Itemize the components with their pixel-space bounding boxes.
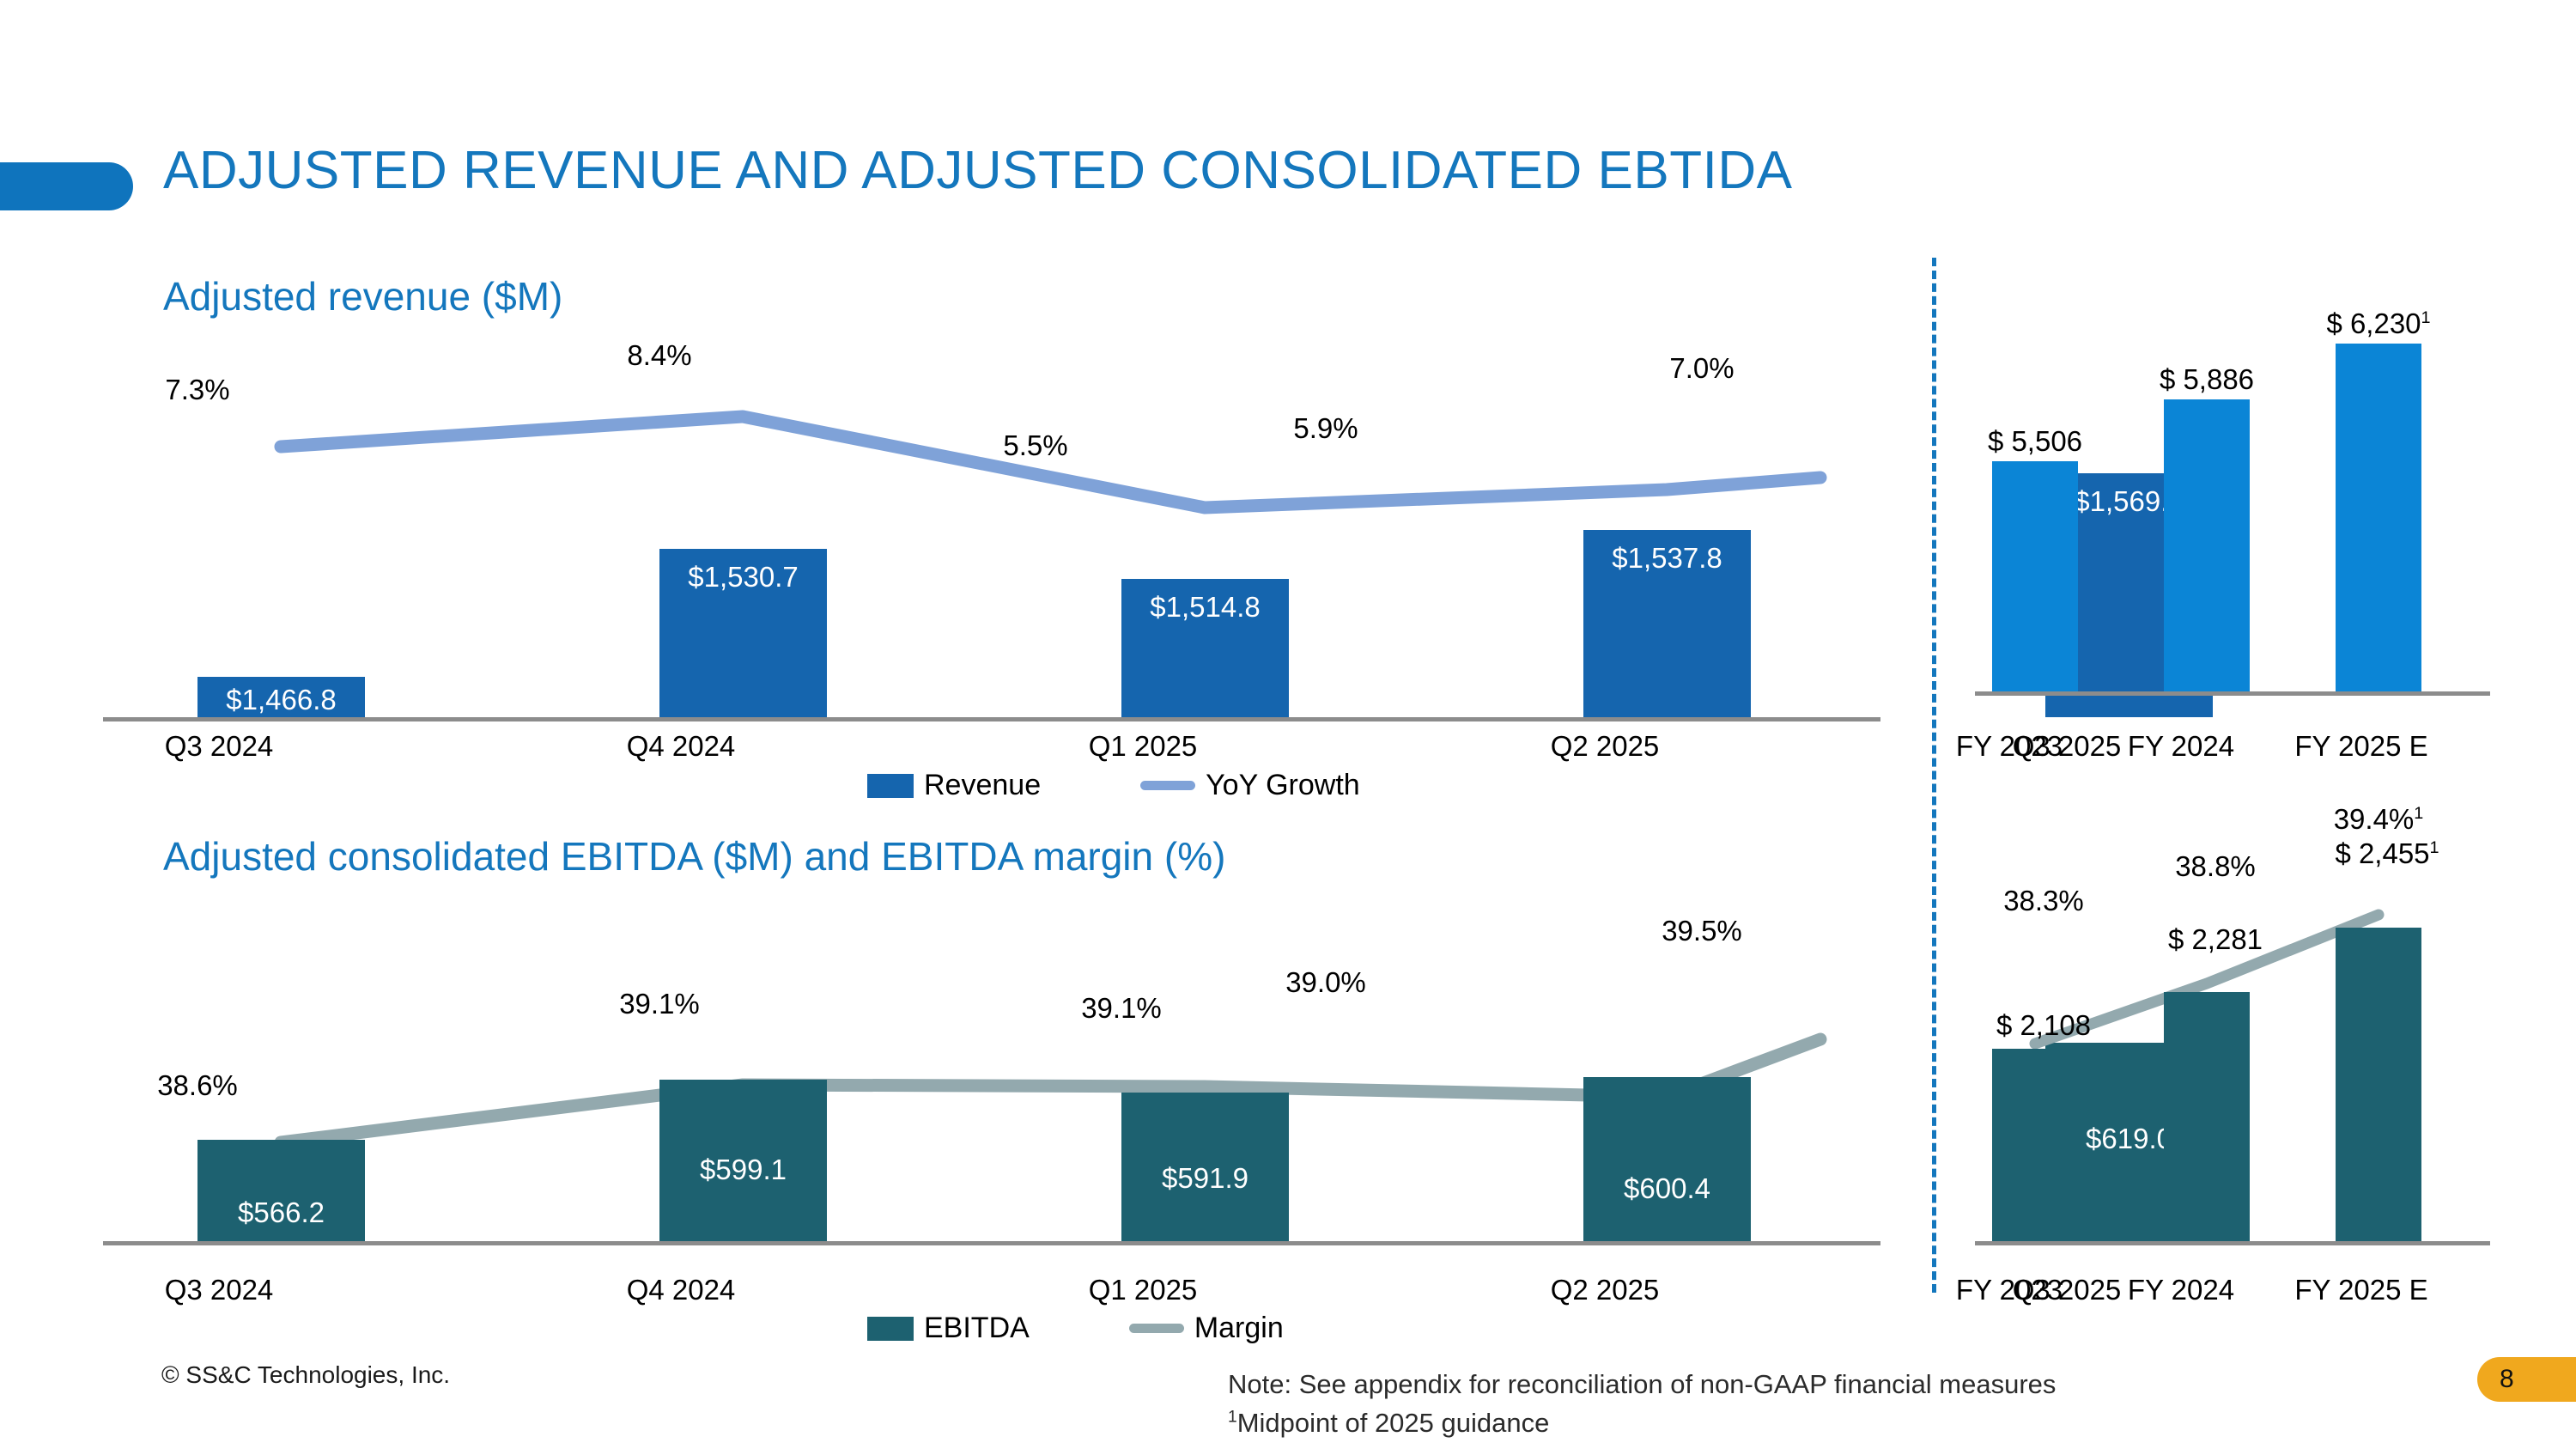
bar-annual-ebitda-fy2025e (2336, 928, 2421, 1241)
bar-ebitda-q4-2024: $599.1 (659, 1080, 827, 1241)
page-number-badge: 8 (2477, 1357, 2576, 1402)
x-axis-line (1975, 691, 2490, 696)
footnotes-block: Note: See appendix for reconciliation of… (1228, 1366, 2056, 1443)
margin-label-q2-2025: 39.0% (1240, 966, 1412, 999)
title-accent-bar (0, 162, 133, 210)
annual-revenue-value-text: $ 6,230 (2326, 307, 2421, 339)
x-label-q2-2025-ebitda: Q2 2025 (1498, 1274, 1712, 1306)
legend-label-ebitda: EBITDA (924, 1312, 1030, 1345)
revenue-legend: Revenue YoY Growth (867, 769, 1360, 802)
annual-margin-fy2025e: 39.4%1 (2293, 803, 2464, 836)
revenue-swatch-icon (867, 774, 914, 798)
margin-label-q3-2025: 39.5% (1616, 915, 1788, 947)
x-label-fy2024-revenue: FY 2024 (2095, 730, 2267, 763)
bar-annual-revenue-fy2025e (2336, 344, 2421, 691)
legend-item-revenue: Revenue (867, 769, 1041, 802)
legend-item-yoy-growth: YoY Growth (1140, 769, 1360, 802)
bar-value-label: $1,530.7 (659, 561, 827, 594)
bar-revenue-q4-2024: $1,530.7 (659, 549, 827, 717)
x-label-fy2023-revenue: FY 2023 (1923, 730, 2095, 763)
margin-label-q1-2025: 39.1% (1036, 992, 1207, 1025)
copyright-text: © SS&C Technologies, Inc. (161, 1361, 450, 1389)
bar-value-label: $599.1 (659, 1154, 827, 1186)
bar-revenue-q1-2025: $1,514.8 (1121, 579, 1289, 717)
yoy-label-q2-2025: 5.9% (1240, 412, 1412, 445)
ebitda-legend: EBITDA Margin (867, 1312, 1284, 1345)
footnote-marker: 1 (1228, 1409, 1237, 1427)
x-label-fy2025e-revenue: FY 2025 E (2267, 730, 2456, 763)
bar-ebitda-q3-2024: $566.2 (197, 1140, 365, 1241)
yoy-label-q3-2024: 7.3% (112, 374, 283, 406)
yoy-line-swatch-icon (1140, 781, 1195, 790)
footnote-text: Midpoint of 2025 guidance (1237, 1408, 1550, 1438)
margin-label-q4-2024: 39.1% (574, 988, 745, 1020)
x-label-q2-2025: Q2 2025 (1498, 730, 1712, 763)
x-label-q1-2025: Q1 2025 (1036, 730, 1250, 763)
bar-annual-ebitda-fy2024 (2164, 992, 2250, 1241)
page-number-text: 8 (2500, 1365, 2514, 1394)
bar-annual-revenue-fy2024 (2164, 399, 2250, 691)
x-axis-line (1975, 1241, 2490, 1245)
annual-ebitda-value-fy2023: $ 2,108 (1966, 1009, 2121, 1042)
bar-ebitda-q2-2025: $600.4 (1583, 1077, 1751, 1241)
ebitda-section-subtitle: Adjusted consolidated EBITDA ($M) and EB… (163, 833, 1225, 880)
footnote-marker: 1 (2421, 308, 2431, 327)
x-axis-line (103, 1241, 1880, 1245)
yoy-label-q4-2024: 8.4% (574, 339, 745, 372)
bar-value-label: $1,466.8 (197, 684, 365, 716)
yoy-label-q3-2025: 7.0% (1616, 352, 1788, 385)
legend-label-margin: Margin (1194, 1312, 1284, 1345)
annual-revenue-value-fy2023: $ 5,506 (1966, 425, 2104, 458)
x-label-q3-2024-ebitda: Q3 2024 (112, 1274, 326, 1306)
footnote-marker: 1 (2430, 838, 2439, 857)
x-label-fy2025e-ebitda: FY 2025 E (2267, 1274, 2456, 1306)
legend-label-yoy-growth: YoY Growth (1206, 769, 1360, 802)
annual-ebitda-value-fy2025e: $ 2,4551 (2301, 837, 2473, 870)
bar-value-label: $1,537.8 (1583, 542, 1751, 575)
footnote-marker: 1 (2414, 804, 2423, 823)
bar-revenue-q2-2025: $1,537.8 (1583, 530, 1751, 717)
x-label-q3-2024: Q3 2024 (112, 730, 326, 763)
bar-revenue-q3-2024: $1,466.8 (197, 677, 365, 717)
x-label-q4-2024: Q4 2024 (574, 730, 788, 763)
x-label-fy2023-ebitda: FY 2023 (1923, 1274, 2095, 1306)
bar-annual-revenue-fy2023 (1992, 461, 2078, 691)
footnote-line: 1Midpoint of 2025 guidance (1228, 1404, 2056, 1443)
margin-line-swatch-icon (1129, 1324, 1184, 1333)
bar-ebitda-q1-2025: $591.9 (1121, 1093, 1289, 1241)
x-label-fy2024-ebitda: FY 2024 (2095, 1274, 2267, 1306)
annual-revenue-value-fy2024: $ 5,886 (2138, 363, 2275, 396)
bar-value-label: $591.9 (1121, 1162, 1289, 1195)
annual-ebitda-value-text: $ 2,455 (2335, 837, 2429, 869)
legend-label-revenue: Revenue (924, 769, 1041, 802)
annual-revenue-value-fy2025e: $ 6,2301 (2301, 307, 2456, 340)
bar-value-label: $566.2 (197, 1196, 365, 1229)
annual-ebitda-value-fy2024: $ 2,281 (2138, 923, 2293, 956)
annual-margin-fy2024: 38.8% (2138, 850, 2293, 883)
note-line: Note: See appendix for reconciliation of… (1228, 1366, 2056, 1404)
bar-annual-ebitda-fy2023 (1992, 1049, 2078, 1241)
revenue-section-subtitle: Adjusted revenue ($M) (163, 273, 562, 320)
margin-label-q3-2024: 38.6% (112, 1069, 283, 1102)
ebitda-swatch-icon (867, 1317, 914, 1341)
annual-revenue-chart (1975, 292, 2490, 696)
annual-margin-fy2023: 38.3% (1966, 885, 2121, 917)
page-title: ADJUSTED REVENUE AND ADJUSTED CONSOLIDAT… (163, 144, 1792, 198)
x-axis-line (103, 717, 1880, 721)
legend-item-margin: Margin (1129, 1312, 1284, 1345)
vertical-divider (1932, 258, 1936, 1293)
bar-value-label: $1,514.8 (1121, 591, 1289, 624)
legend-item-ebitda: EBITDA (867, 1312, 1030, 1345)
yoy-label-q1-2025: 5.5% (950, 429, 1121, 462)
bar-value-label: $600.4 (1583, 1172, 1751, 1205)
quarterly-ebitda-chart: $566.2 $599.1 $591.9 $600.4 $619.0 (103, 928, 1880, 1245)
quarterly-revenue-chart: $1,466.8 $1,530.7 $1,514.8 $1,537.8 $1,5… (103, 361, 1880, 721)
x-label-q1-2025-ebitda: Q1 2025 (1036, 1274, 1250, 1306)
x-label-q4-2024-ebitda: Q4 2024 (574, 1274, 788, 1306)
annual-margin-text: 39.4% (2334, 803, 2415, 835)
